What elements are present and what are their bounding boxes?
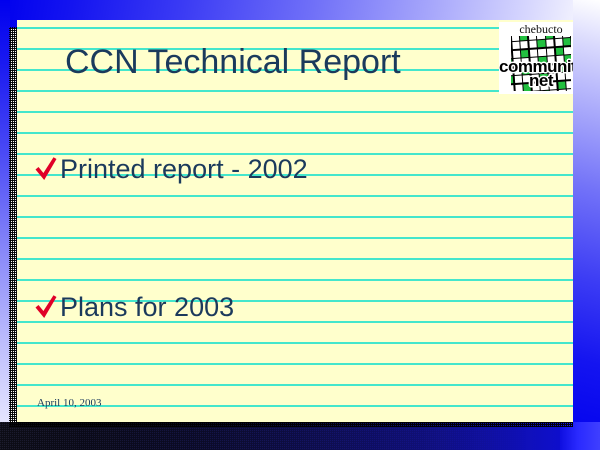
slide-footer-date: April 10, 2003 xyxy=(37,397,101,410)
bullet-item-printed-report: Printed report - 2002 xyxy=(33,154,308,184)
check-mark-icon xyxy=(33,154,59,184)
chebucto-community-net-logo: chebucto community net xyxy=(499,22,573,94)
slide-frame-right-band xyxy=(573,0,600,450)
presentation-slide: CCN Technical Report Printed report - 20… xyxy=(0,0,600,450)
logo-wordmark-net: net xyxy=(499,72,573,90)
check-mark-icon xyxy=(33,292,59,322)
logo-wordmark-chebucto: chebucto xyxy=(499,22,573,36)
bullet-item-plans: Plans for 2003 xyxy=(33,292,234,322)
slide-content: CCN Technical Report Printed report - 20… xyxy=(17,20,573,422)
lined-paper-background: CCN Technical Report Printed report - 20… xyxy=(17,20,573,422)
page-title: CCN Technical Report xyxy=(65,41,401,83)
bullet-label: Plans for 2003 xyxy=(60,292,234,322)
bullet-label: Printed report - 2002 xyxy=(60,154,308,184)
